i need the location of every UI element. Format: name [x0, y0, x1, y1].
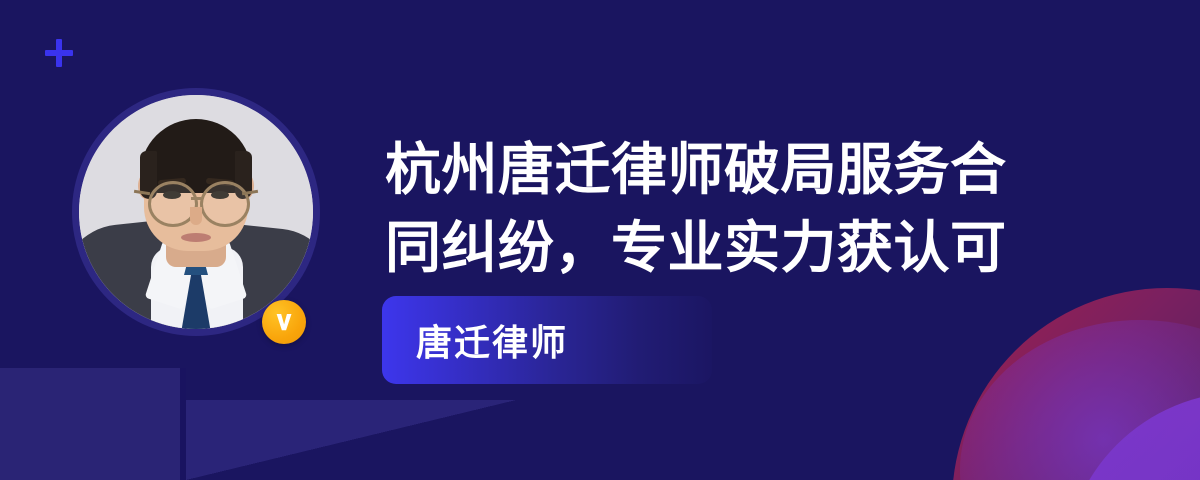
lawyer-name-pill[interactable]: 唐迁律师 [382, 296, 712, 384]
decor-circle-red [952, 288, 1200, 480]
lawyer-name-label: 唐迁律师 [416, 314, 568, 366]
decor-vertical-bar [180, 368, 186, 480]
decor-left-block [0, 368, 180, 480]
decor-glow [960, 320, 1200, 480]
plus-icon [45, 39, 73, 67]
promo-banner: 杭州唐迁律师破局服务合 同纠纷，专业实力获认可 唐迁律师 [0, 0, 1200, 480]
avatar-photo [79, 95, 313, 329]
verified-v-icon [262, 300, 306, 344]
decor-triangle [186, 400, 516, 480]
avatar [72, 88, 320, 336]
page-title: 杭州唐迁律师破局服务合 同纠纷，专业实力获认可 [385, 131, 1175, 287]
decor-circle-violet [1064, 392, 1200, 480]
